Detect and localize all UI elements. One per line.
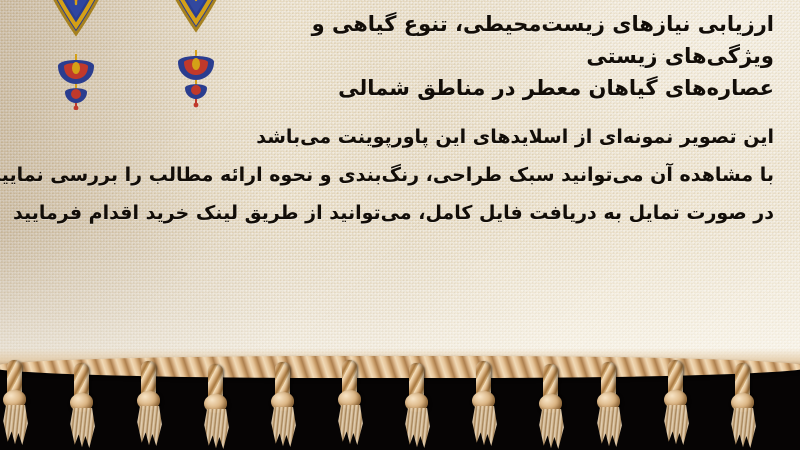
slide-title-line-1: ارزیابی نیازهای زیست‌محیطی، تنوع گیاهی و…	[214, 8, 774, 72]
slide-body: این تصویر نمونه‌ای از اسلایدهای این پاور…	[74, 118, 774, 232]
slide-title-line-2: عصاره‌های گیاهان معطر در مناطق شمالی	[214, 72, 774, 104]
carpet-fringe-tassel	[726, 363, 760, 447]
fringe-skirt	[68, 408, 96, 448]
fringe-skirt	[403, 408, 431, 448]
carpet-fringe-tassel	[65, 363, 99, 447]
fringe-skirt	[729, 408, 757, 448]
fringe-skirt	[135, 406, 163, 446]
carpet-fringe-tassel	[266, 362, 300, 446]
carpet-fringe-tassel	[132, 361, 166, 445]
carpet-fringe-tassel	[592, 362, 626, 446]
fringe-skirt	[595, 407, 623, 447]
carpet-fringe-tassel	[659, 360, 693, 444]
presentation-slide: ارزیابی نیازهای زیست‌محیطی، تنوع گیاهی و…	[0, 0, 800, 450]
carpet-fringe-tassel	[199, 364, 233, 448]
slide-body-line-3: در صورت تمایل به دریافت فایل کامل، می‌تو…	[74, 194, 774, 232]
fringe-skirt	[336, 405, 364, 445]
fringe-skirt	[202, 409, 230, 449]
carpet-fringe-tassel	[333, 360, 367, 444]
carpet-fringe-tassel	[0, 360, 32, 444]
slide-body-line-2: با مشاهده آن می‌توانید سبک طراحی، رنگ‌بن…	[74, 156, 774, 194]
slide-title: ارزیابی نیازهای زیست‌محیطی، تنوع گیاهی و…	[214, 8, 774, 104]
fringe-skirt	[1, 405, 29, 445]
carpet-fringe-tassel	[400, 363, 434, 447]
fringe-skirt	[470, 406, 498, 446]
carpet-fringe-tassel	[534, 364, 568, 448]
carpet-fringe-tassel	[467, 361, 501, 445]
fringe-skirt	[537, 409, 565, 449]
persian-carpet-pendant-left	[44, 54, 108, 110]
fringe-skirt	[269, 407, 297, 447]
slide-body-line-1: این تصویر نمونه‌ای از اسلایدهای این پاور…	[74, 118, 774, 156]
fringe-skirt	[662, 405, 690, 445]
